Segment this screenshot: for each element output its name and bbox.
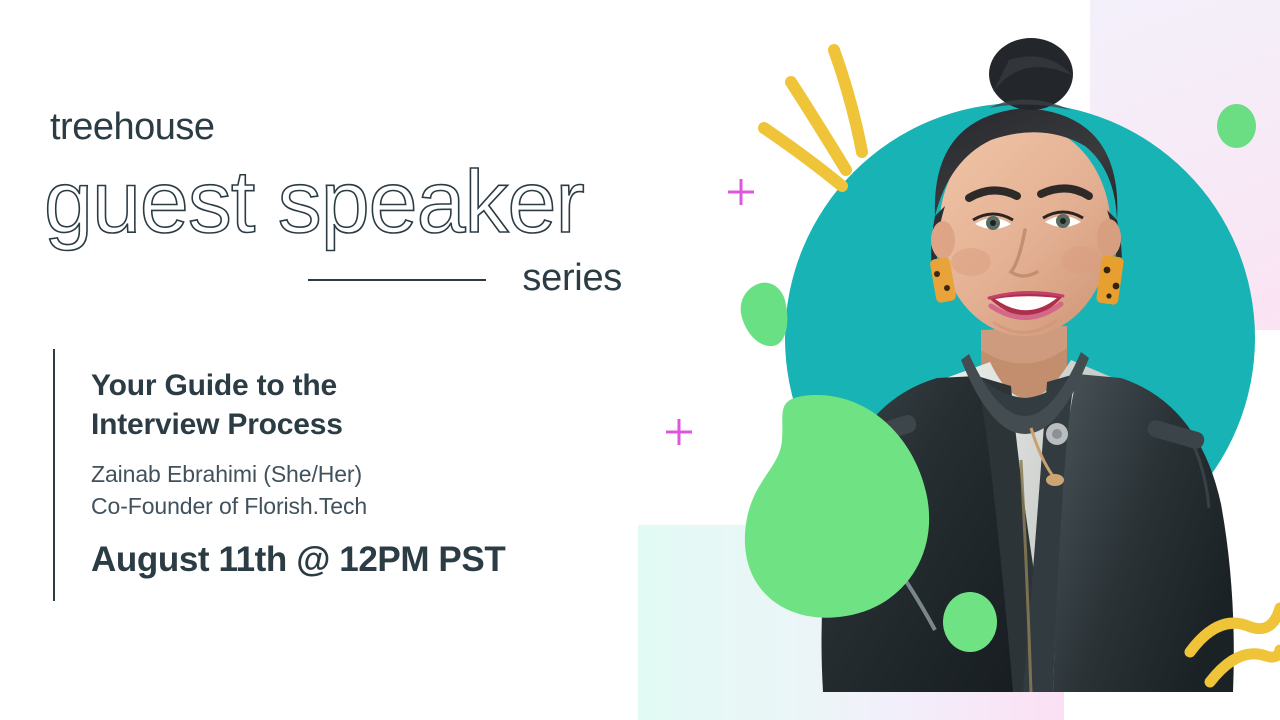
brand-wordmark: treehouse (50, 108, 215, 146)
speaker-portrait-photo (785, 30, 1255, 692)
speaker-name: Zainab Ebrahimi (She/Her) (91, 458, 631, 490)
vertical-divider (53, 349, 55, 601)
text-column: treehouse guest speaker series Your Guid… (0, 0, 660, 720)
session-datetime: August 11th @ 12PM PST (91, 539, 631, 581)
green-circle-bottom (943, 592, 997, 652)
talk-title-line-2: Interview Process (91, 405, 631, 444)
series-row: series (300, 255, 630, 303)
speaker-role: Co-Founder of Florish.Tech (91, 490, 631, 522)
headline-outline-text: guest speaker (44, 158, 584, 246)
session-details: Your Guide to the Interview Process Zain… (91, 366, 631, 581)
talk-title-line-1: Your Guide to the (91, 366, 631, 405)
series-rule (308, 279, 486, 281)
promo-slide: treehouse guest speaker series Your Guid… (0, 0, 1280, 720)
series-label: series (522, 255, 622, 303)
